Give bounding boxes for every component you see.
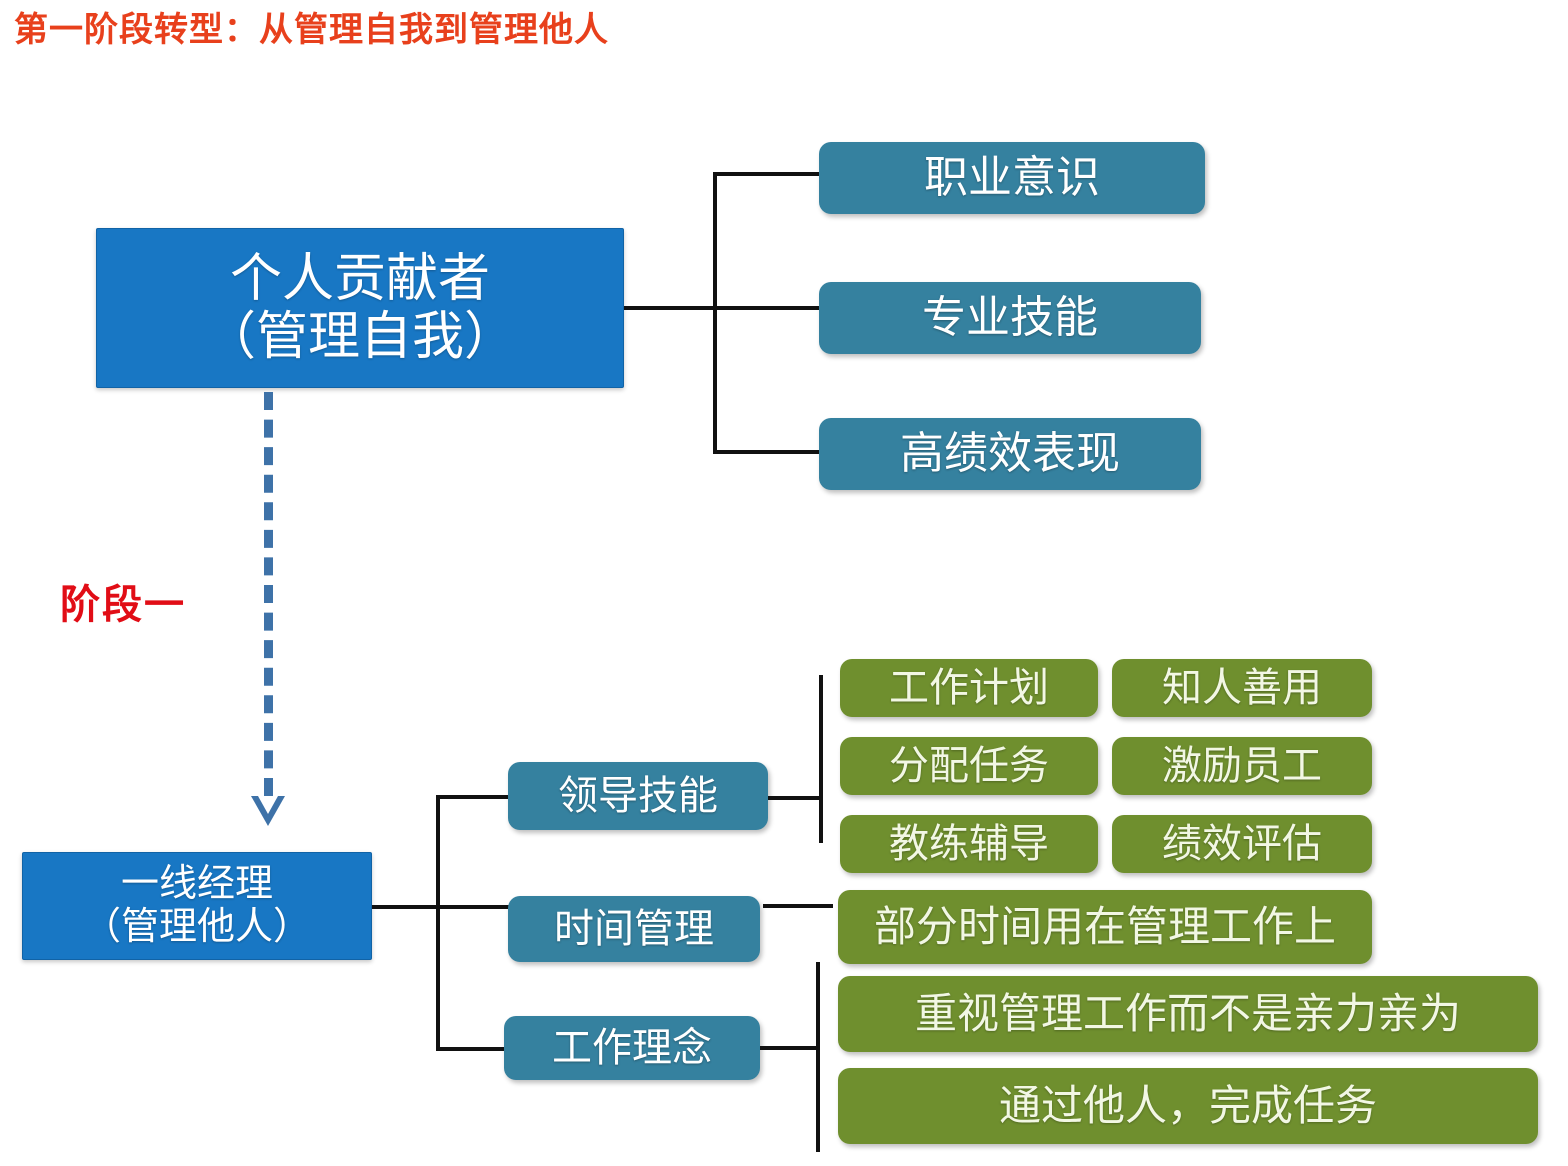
manager-line-1: 一线经理 bbox=[121, 863, 273, 906]
stage-transition-dashed-line bbox=[264, 392, 273, 796]
detail-label-8: 重视管理工作而不是亲力亲为 bbox=[915, 990, 1461, 1037]
category-label-2: 时间管理 bbox=[554, 907, 714, 952]
detail-label-5: 教练辅导 bbox=[889, 822, 1049, 867]
detail-box-value-manage-not-do: 重视管理工作而不是亲力亲为 bbox=[838, 976, 1538, 1052]
connector-mgr-trunk bbox=[436, 795, 440, 1051]
category-box-work-values: 工作理念 bbox=[504, 1016, 760, 1080]
category-label-1: 领导技能 bbox=[558, 774, 718, 819]
detail-label-4: 激励员工 bbox=[1162, 744, 1322, 789]
category-label-3: 工作理念 bbox=[552, 1026, 712, 1071]
connector-mgr-branch-3 bbox=[436, 1047, 510, 1051]
detail-label-2: 知人善用 bbox=[1162, 666, 1322, 711]
detail-box-time-allocation: 部分时间用在管理工作上 bbox=[838, 890, 1372, 964]
attribute-label-3: 高绩效表现 bbox=[900, 429, 1120, 478]
connector-ic-branch-3 bbox=[713, 450, 821, 454]
connector-mgr-branch-2 bbox=[436, 905, 510, 909]
role-line-1: 个人贡献者 bbox=[230, 250, 490, 308]
category-box-leadership-skills: 领导技能 bbox=[508, 762, 768, 830]
detail-box-motivate-staff: 激励员工 bbox=[1112, 737, 1372, 795]
role-line-2: （管理自我） bbox=[204, 308, 516, 366]
connector-time-stem bbox=[763, 904, 833, 908]
page-title: 第一阶段转型：从管理自我到管理他人 bbox=[14, 12, 609, 49]
role-box-individual-contributor: 个人贡献者 （管理自我） bbox=[96, 228, 624, 388]
category-box-time-management: 时间管理 bbox=[508, 896, 760, 962]
detail-label-6: 绩效评估 bbox=[1162, 822, 1322, 867]
attribute-label-2: 专业技能 bbox=[922, 293, 1098, 342]
detail-box-right-person: 知人善用 bbox=[1112, 659, 1372, 717]
detail-box-assign-tasks: 分配任务 bbox=[840, 737, 1098, 795]
role-box-first-line-manager: 一线经理 （管理他人） bbox=[22, 852, 372, 960]
connector-mgr-branch-1 bbox=[436, 795, 510, 799]
detail-label-7: 部分时间用在管理工作上 bbox=[874, 903, 1336, 950]
slide-canvas: 第一阶段转型：从管理自我到管理他人 个人贡献者 （管理自我） 职业意识 专业技能… bbox=[0, 0, 1568, 1166]
detail-label-9: 通过他人，完成任务 bbox=[999, 1082, 1377, 1129]
attribute-box-3: 高绩效表现 bbox=[819, 418, 1201, 490]
manager-line-2: （管理他人） bbox=[83, 906, 311, 949]
detail-label-1: 工作计划 bbox=[889, 666, 1049, 711]
connector-mgr-stem bbox=[372, 905, 440, 909]
attribute-label-1: 职业意识 bbox=[924, 153, 1100, 202]
detail-label-3: 分配任务 bbox=[889, 744, 1049, 789]
connector-values-bar bbox=[816, 962, 820, 1152]
connector-ic-branch-2 bbox=[713, 306, 821, 310]
attribute-box-2: 专业技能 bbox=[819, 282, 1201, 354]
detail-box-value-through-others: 通过他人，完成任务 bbox=[838, 1068, 1538, 1144]
detail-box-performance-review: 绩效评估 bbox=[1112, 815, 1372, 873]
connector-leadership-bar bbox=[819, 675, 823, 843]
connector-leadership-stem bbox=[768, 796, 822, 800]
stage-one-label: 阶段一 bbox=[60, 572, 186, 630]
connector-ic-branch-1 bbox=[713, 172, 821, 176]
stage-transition-arrow-head bbox=[251, 796, 285, 826]
detail-box-coaching: 教练辅导 bbox=[840, 815, 1098, 873]
connector-ic-stem bbox=[624, 306, 717, 310]
connector-values-stem bbox=[760, 1046, 818, 1050]
attribute-box-1: 职业意识 bbox=[819, 142, 1205, 214]
connector-ic-trunk bbox=[713, 172, 717, 454]
detail-box-work-plan: 工作计划 bbox=[840, 659, 1098, 717]
